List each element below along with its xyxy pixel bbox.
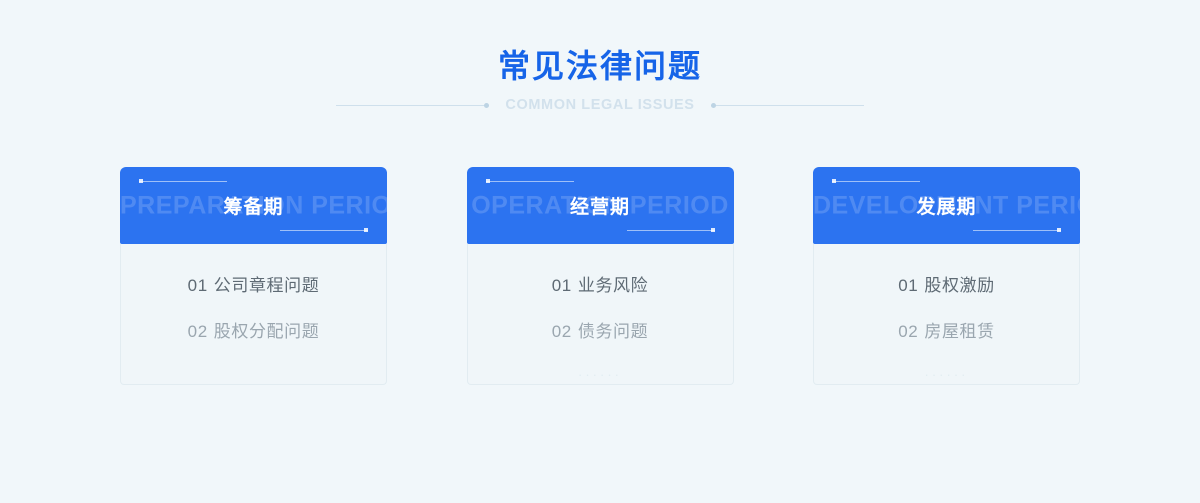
card-body: 01公司章程问题 02股权分配问题 <box>120 244 387 385</box>
decorative-dot-left <box>484 103 489 108</box>
more-ellipsis <box>121 366 386 384</box>
header-line-top-dot <box>486 179 490 183</box>
header-line-top-icon <box>139 177 227 184</box>
card-header: DEVELOPMENT PERIOD 发展期 <box>813 167 1080 244</box>
header-line-top-dot <box>139 179 143 183</box>
header-line-bottom-dot <box>711 228 715 232</box>
list-item[interactable]: 01股权激励 <box>814 274 1079 298</box>
item-index: 01 <box>898 276 918 295</box>
card-title: 筹备期 <box>223 192 283 219</box>
card-header: PREPARATION PERIOD 筹备期 <box>120 167 387 244</box>
header-line-top-dot <box>832 179 836 183</box>
more-ellipsis: ······ <box>468 366 733 384</box>
card-list: PREPARATION PERIOD 筹备期 01公司章程问题 02股权分配问题 <box>120 167 1080 385</box>
header-line-top-icon <box>832 177 920 184</box>
item-label: 公司章程问题 <box>214 276 320 295</box>
header-line-bottom-icon <box>627 226 715 233</box>
page-title: 常见法律问题 <box>0 44 1200 88</box>
decorative-line-right <box>711 100 864 110</box>
item-label: 股权激励 <box>924 276 994 295</box>
item-index: 02 <box>188 322 208 341</box>
decorative-dot-right <box>711 103 716 108</box>
card-header: OPERATION PERIOD 经营期 <box>467 167 734 244</box>
item-label: 房屋租赁 <box>924 322 994 341</box>
list-item[interactable]: 01公司章程问题 <box>121 274 386 298</box>
decorative-line-left <box>336 100 489 110</box>
item-label: 债务问题 <box>578 322 648 341</box>
header-line-bottom-dot <box>1057 228 1061 232</box>
list-item[interactable]: 01业务风险 <box>468 274 733 298</box>
card-title: 经营期 <box>570 192 630 219</box>
item-index: 02 <box>552 322 572 341</box>
more-ellipsis: ······ <box>814 366 1079 384</box>
page-root: 常见法律问题 COMMON LEGAL ISSUES PREPARATION P… <box>0 0 1200 503</box>
header-line-bottom-icon <box>280 226 368 233</box>
card-development-period[interactable]: DEVELOPMENT PERIOD 发展期 01股权激励 02房屋租赁 ···… <box>813 167 1080 385</box>
card-preparation-period[interactable]: PREPARATION PERIOD 筹备期 01公司章程问题 02股权分配问题 <box>120 167 387 385</box>
list-item[interactable]: 02房屋租赁 <box>814 320 1079 344</box>
list-item[interactable]: 02股权分配问题 <box>121 320 386 344</box>
card-title: 发展期 <box>916 192 976 219</box>
section-header: 常见法律问题 COMMON LEGAL ISSUES <box>0 44 1200 116</box>
list-item[interactable]: 02债务问题 <box>468 320 733 344</box>
item-index: 01 <box>188 276 208 295</box>
header-line-bottom-icon <box>973 226 1061 233</box>
card-body: 01业务风险 02债务问题 ······ <box>467 244 734 385</box>
card-body: 01股权激励 02房屋租赁 ······ <box>813 244 1080 385</box>
item-index: 02 <box>898 322 918 341</box>
item-index: 01 <box>552 276 572 295</box>
page-subtitle: COMMON LEGAL ISSUES <box>505 95 694 115</box>
item-label: 股权分配问题 <box>214 322 320 341</box>
card-operation-period[interactable]: OPERATION PERIOD 经营期 01业务风险 02债务问题 ·····… <box>467 167 734 385</box>
header-line-top-icon <box>486 177 574 184</box>
subtitle-row: COMMON LEGAL ISSUES <box>0 94 1200 116</box>
header-line-bottom-dot <box>364 228 368 232</box>
item-label: 业务风险 <box>578 276 648 295</box>
